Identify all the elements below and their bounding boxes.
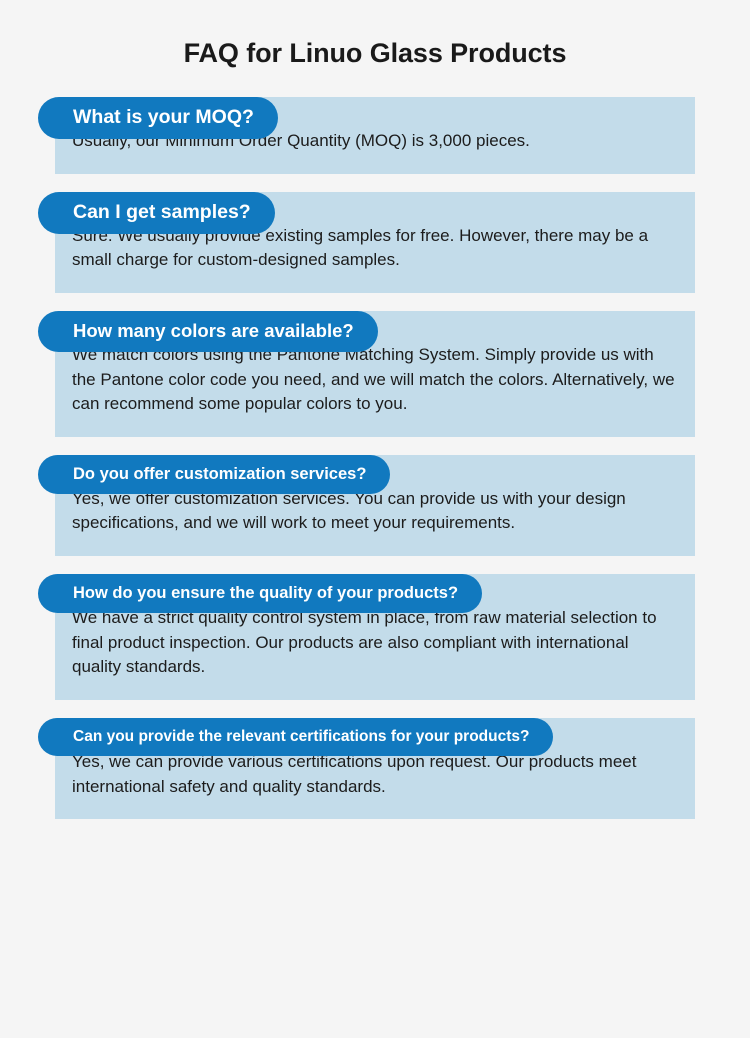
faq-question-pill[interactable]: How many colors are available? — [38, 311, 378, 352]
faq-answer-text: Yes, we can provide various certificatio… — [72, 750, 678, 799]
faq-item: Can I get samples? Sure. We usually prov… — [0, 192, 750, 293]
faq-question-pill[interactable]: Can you provide the relevant certificati… — [38, 718, 553, 756]
faq-item: Can you provide the relevant certificati… — [0, 718, 750, 819]
faq-item: What is your MOQ? Usually, our Minimum O… — [0, 97, 750, 174]
faq-list: What is your MOQ? Usually, our Minimum O… — [0, 97, 750, 819]
faq-question-pill[interactable]: How do you ensure the quality of your pr… — [38, 574, 482, 613]
faq-item: How do you ensure the quality of your pr… — [0, 574, 750, 700]
faq-answer-text: We match colors using the Pantone Matchi… — [72, 343, 678, 417]
faq-item: Do you offer customization services? Yes… — [0, 455, 750, 556]
faq-question-pill[interactable]: Can I get samples? — [38, 192, 275, 234]
faq-item: How many colors are available? We match … — [0, 311, 750, 437]
faq-answer-text: We have a strict quality control system … — [72, 606, 678, 680]
faq-answer-text: Yes, we offer customization services. Yo… — [72, 487, 678, 536]
faq-question-pill[interactable]: Do you offer customization services? — [38, 455, 390, 494]
faq-question-pill[interactable]: What is your MOQ? — [38, 97, 278, 139]
faq-page: FAQ for Linuo Glass Products What is you… — [0, 0, 750, 1038]
page-title: FAQ for Linuo Glass Products — [0, 0, 750, 69]
